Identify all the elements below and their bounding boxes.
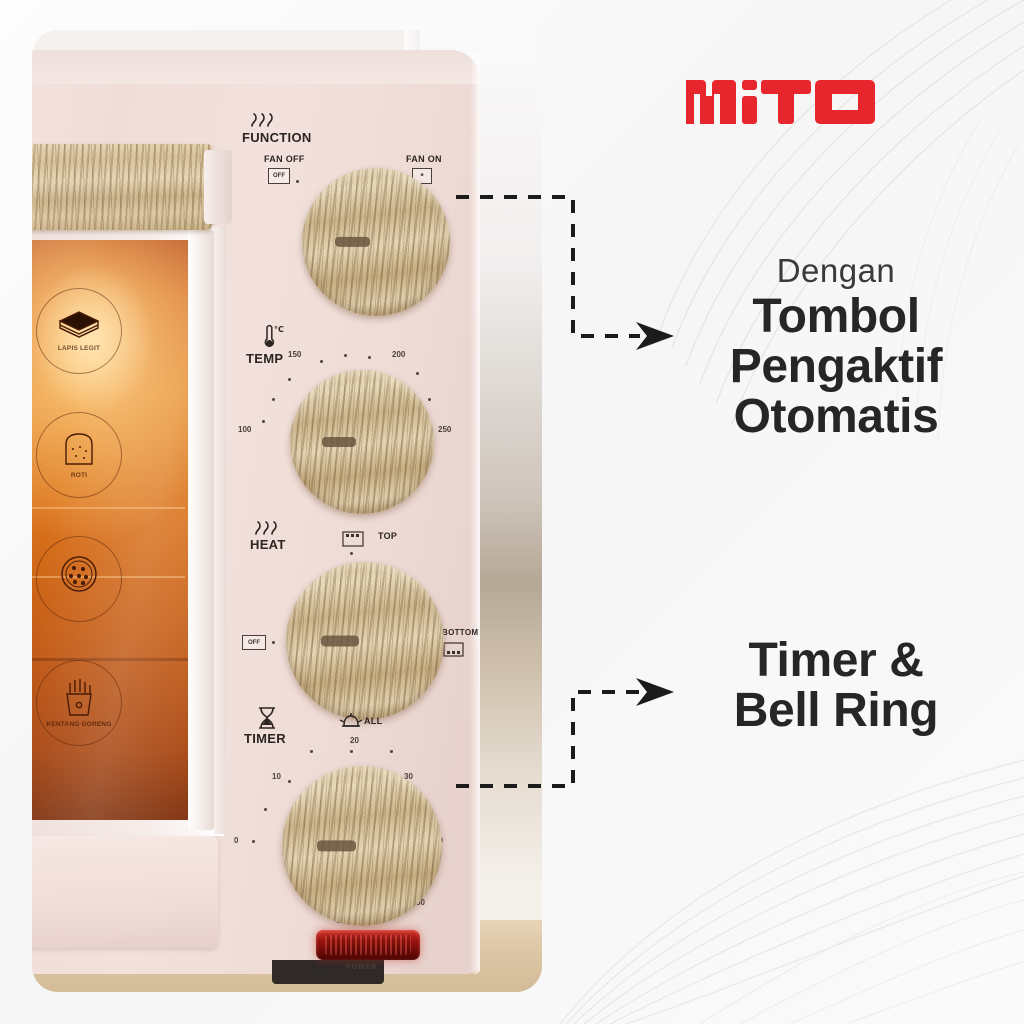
callout-1-line2: Pengaktif	[676, 342, 996, 392]
callout-1-eyebrow: Dengan	[676, 252, 996, 290]
temp-tick-dot	[344, 354, 347, 357]
food-icon-label: LAPIS LEGIT	[58, 345, 100, 352]
oven-door-handle	[32, 144, 212, 230]
fan-off-label: FAN OFF	[264, 154, 305, 164]
timer-tick-10: 10	[272, 772, 281, 781]
temp-tick-dot	[368, 356, 371, 359]
callout-2-line2: Bell Ring	[676, 686, 996, 736]
timer-tick-0: 0	[234, 836, 238, 845]
callout-2-line1: Timer &	[676, 636, 996, 686]
callout-1-line3: Otomatis	[676, 392, 996, 442]
oven-bottom-drawer	[32, 836, 218, 948]
heat-off-box: OFF	[242, 635, 266, 650]
heat-waves-icon	[248, 112, 274, 128]
product-photo: LAPIS LEGIT ROTI PIZZA	[32, 30, 542, 992]
bread-icon: ROTI	[36, 412, 122, 498]
callout-2: Timer & Bell Ring	[676, 636, 996, 736]
callout-1: Dengan Tombol Pengaktif Otomatis	[676, 252, 996, 442]
control-panel: FUNCTION FAN OFF OFF FAN ON * °C TEMP 15…	[228, 50, 484, 974]
bottom-heat-icon	[442, 640, 466, 660]
food-icon-label: ROTI	[71, 472, 87, 479]
heat-top-label: TOP	[378, 531, 397, 541]
pizza-icon: PIZZA	[36, 536, 122, 622]
timer-tick	[350, 750, 353, 753]
temp-tick-dot	[416, 372, 419, 375]
temp-tick-200: 200	[392, 350, 405, 359]
layer-cake-icon: LAPIS LEGIT	[36, 288, 122, 374]
function-tick	[296, 180, 299, 183]
thermometer-icon: °C	[258, 324, 284, 350]
timer-tick	[310, 750, 313, 753]
food-icon-label: KENTANG GORENG	[46, 721, 111, 728]
temp-tick-dot	[272, 398, 275, 401]
hourglass-icon	[256, 705, 278, 731]
function-knob[interactable]	[302, 168, 450, 316]
heat-bottom-label: BOTTOM	[442, 628, 478, 637]
fan-on-label: FAN ON	[406, 154, 442, 164]
timer-tick	[264, 808, 267, 811]
timer-tick	[288, 780, 291, 783]
temp-tick-250: 250	[438, 425, 451, 434]
bell-all-label: ALL	[364, 716, 382, 726]
temp-tick-150: 150	[288, 350, 301, 359]
heat-tick	[350, 552, 353, 555]
heat-waves-icon	[252, 520, 278, 536]
timer-tick	[390, 750, 393, 753]
function-label: FUNCTION	[242, 130, 312, 145]
mito-logo	[684, 72, 880, 137]
heat-knob[interactable]	[286, 562, 444, 720]
power-label: POWER	[346, 964, 377, 971]
power-indicator-lamp	[316, 930, 420, 960]
fries-icon: KENTANG GORENG	[36, 660, 122, 746]
door-rail	[188, 230, 214, 830]
heat-label: HEAT	[250, 537, 286, 552]
bell-icon	[338, 710, 364, 736]
timer-label: TIMER	[244, 731, 286, 746]
temp-label: TEMP	[246, 351, 283, 366]
timer-knob[interactable]	[282, 766, 442, 926]
timer-tick	[252, 840, 255, 843]
fan-off-box: OFF	[268, 168, 290, 184]
callout-1-line1: Tombol	[676, 292, 996, 342]
door-rail-inner	[214, 226, 226, 834]
temp-tick-dot	[262, 420, 265, 423]
top-heat-icon	[340, 528, 366, 550]
timer-tick-20: 20	[350, 736, 359, 745]
svg-text:°C: °C	[274, 325, 284, 334]
heat-tick	[272, 641, 275, 644]
temp-tick-100: 100	[238, 425, 251, 434]
mito-logo-wordmark	[684, 72, 880, 132]
temp-tick-dot	[320, 360, 323, 363]
temp-knob[interactable]	[290, 370, 434, 514]
temp-tick-dot	[288, 378, 291, 381]
temp-tick-dot	[428, 398, 431, 401]
